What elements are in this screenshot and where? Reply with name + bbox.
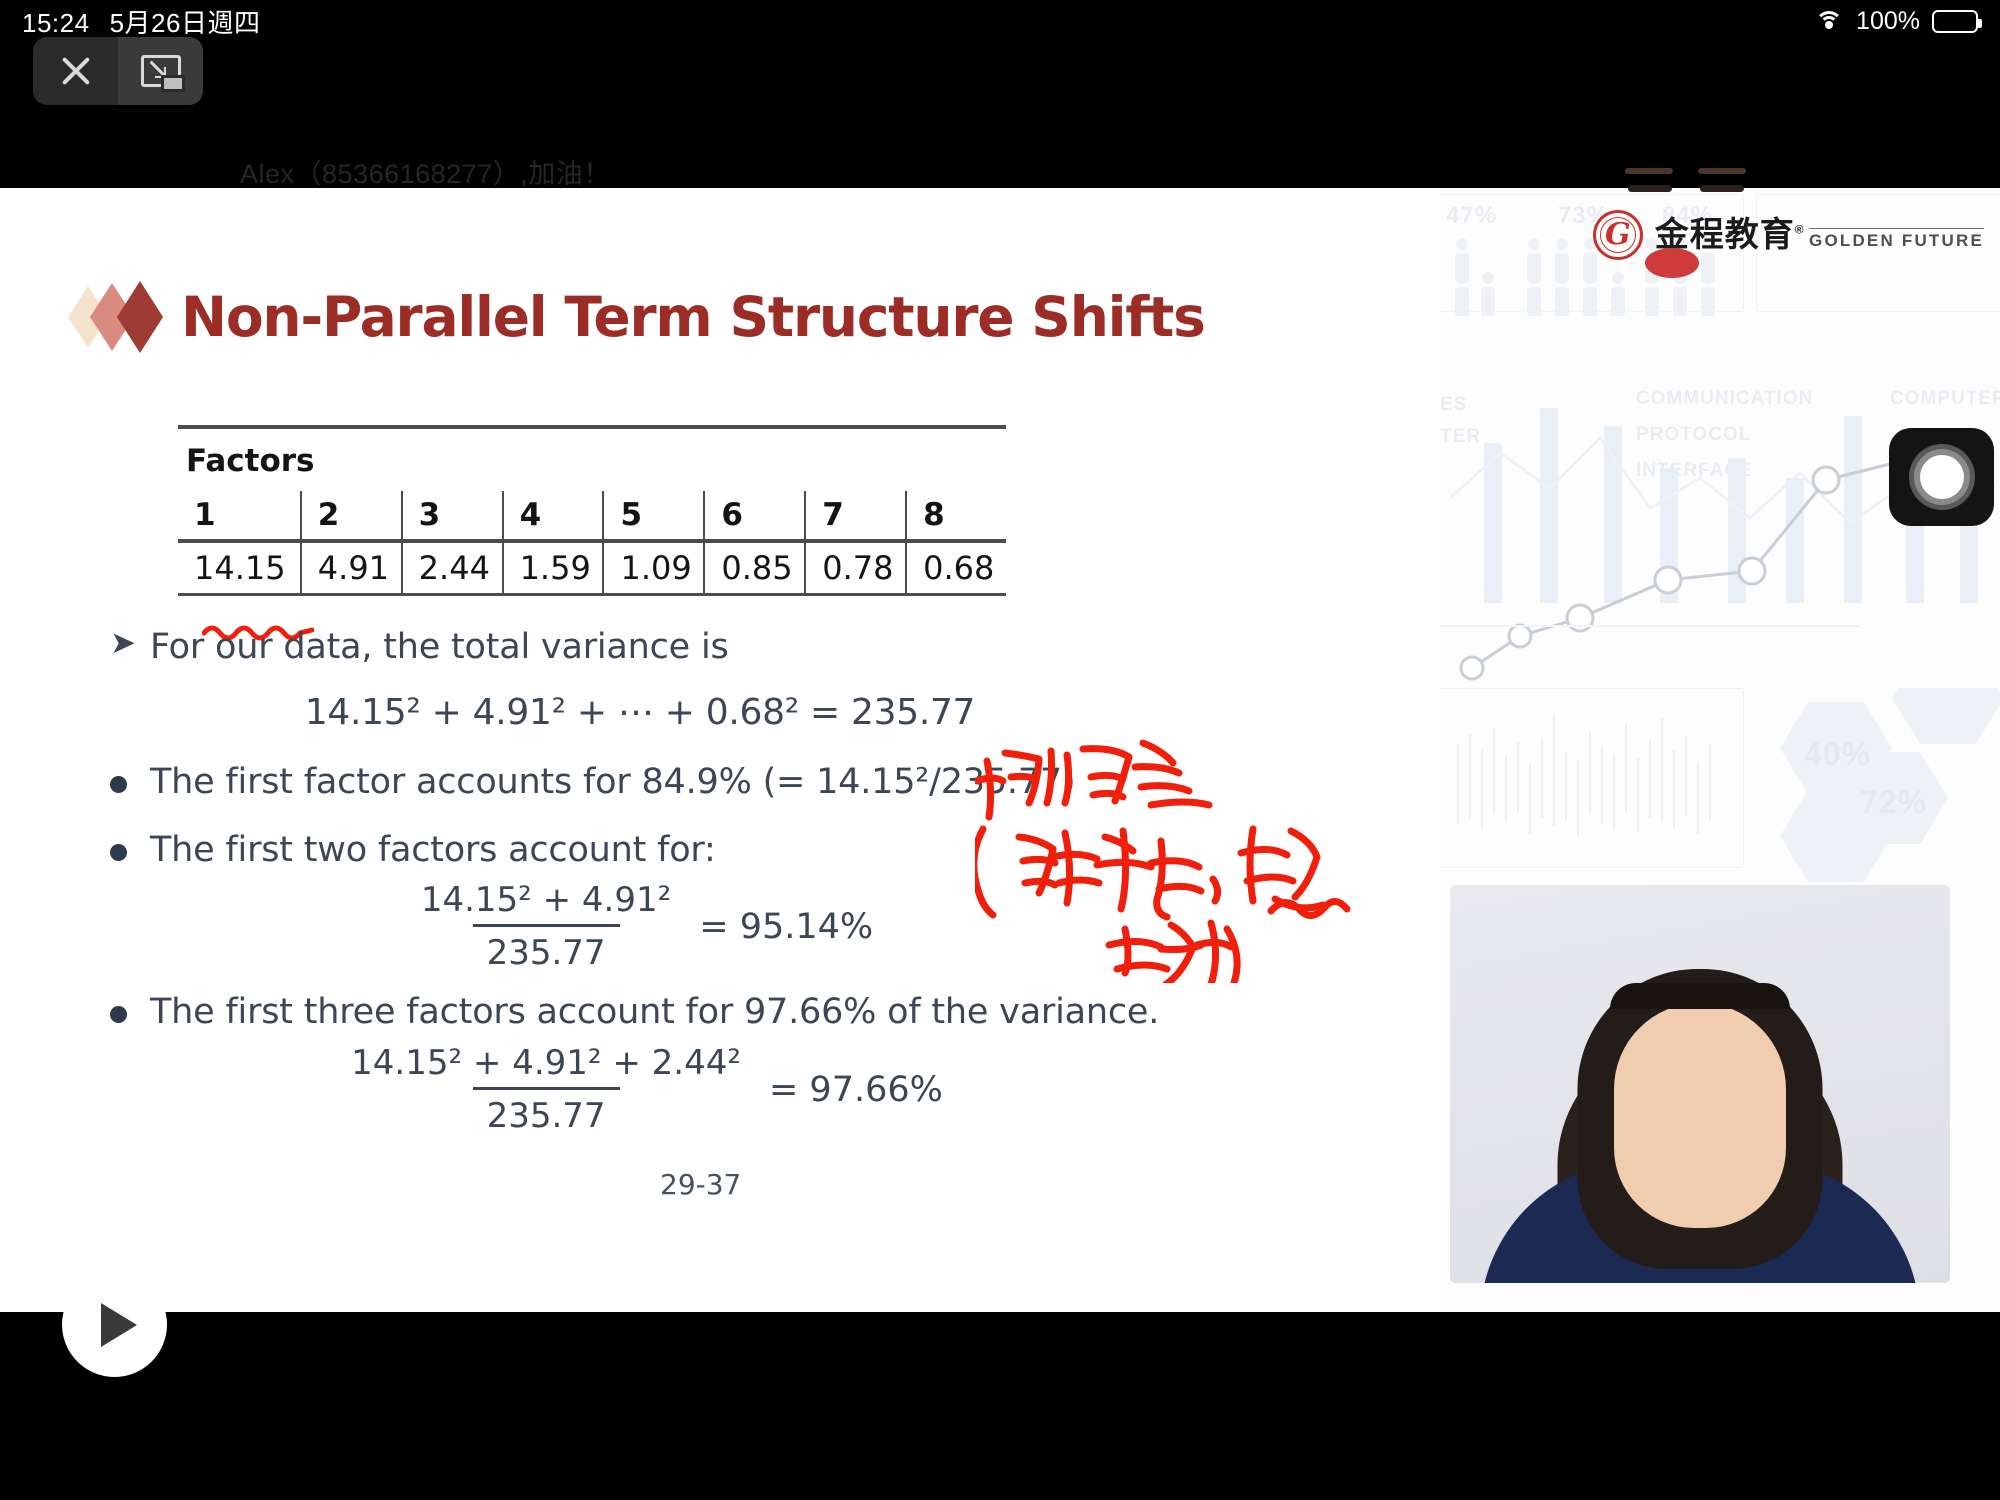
brand-name-en: GOLDEN FUTURE: [1809, 228, 1984, 250]
webcam-face: [1614, 1003, 1786, 1228]
status-bar: 15:24 5月26日週四 100%: [0, 0, 2000, 42]
bullet-item-1-text: The first factor accounts for 84.9% (= 1…: [150, 761, 1075, 805]
webcam-eyebrow-right: [1698, 168, 1746, 174]
fraction-1-numerator: 14.15² + 4.91²: [407, 880, 685, 924]
fraction-2-result: = 97.66%: [769, 1070, 943, 1110]
page-title: Non-Parallel Term Structure Shifts: [181, 285, 1205, 349]
battery-percent-label: 100%: [1856, 7, 1920, 36]
fraction-1-result: = 95.14%: [699, 907, 873, 947]
registered-mark: ®: [1795, 223, 1805, 237]
webcam-lips: [1645, 248, 1699, 278]
factors-table: 1 2 3 4 5 6 7 8 14.15 4.91: [178, 491, 1006, 596]
bullet-item-3-text: The first three factors account for 97.6…: [150, 991, 1159, 1035]
table-cell: 2.44: [402, 541, 503, 595]
slide-page-number: 29-37: [660, 1168, 741, 1201]
fraction-2-numerator: 14.15² + 4.91² + 2.44²: [337, 1043, 755, 1087]
bullet-item-3: The first three factors account for 97.6…: [110, 991, 1170, 1035]
instructor-webcam-video[interactable]: [1450, 885, 1950, 1283]
table-cell: 14.15: [178, 541, 301, 595]
fraction-2-denominator: 235.77: [473, 1087, 620, 1136]
decor-pct-1: 47%: [1446, 202, 1497, 230]
factors-table-wrapper: Factors 1 2 3 4 5 6 7 8: [178, 425, 1006, 596]
slide-title-row: Non-Parallel Term Structure Shifts: [62, 278, 1205, 356]
table-cell: 1.09: [603, 541, 704, 595]
close-button[interactable]: [33, 37, 118, 105]
diamond-bullet-icon: [62, 278, 167, 356]
table-header-cell: 2: [301, 491, 402, 541]
picture-in-picture-icon: [141, 55, 181, 87]
dot-bullet-icon: [110, 991, 150, 1023]
decor-line-chart: [1440, 368, 2000, 698]
app-root: 15:24 5月26日週四 100% Alex（85366168277）,加油！: [0, 0, 2000, 1500]
table-header-cell: 4: [503, 491, 604, 541]
play-button[interactable]: [62, 1272, 167, 1377]
table-cell: 1.59: [503, 541, 604, 595]
table-cell: 0.78: [805, 541, 906, 595]
seal-glyph: G: [1605, 220, 1631, 250]
webcam-eyebrow-left: [1625, 168, 1673, 174]
table-header-cell: 5: [603, 491, 704, 541]
table-header-cell: 6: [704, 491, 805, 541]
decor-candlestick-chart: [1448, 694, 1738, 869]
webcam-headband: [1610, 983, 1790, 1009]
wifi-icon: [1814, 10, 1844, 32]
slide-content: Non-Parallel Term Structure Shifts Facto…: [0, 188, 1440, 1312]
table-row: 14.15 4.91 2.44 1.59 1.09 0.85 0.78 0.68: [178, 541, 1006, 595]
fraction-1-denominator: 235.77: [473, 924, 620, 973]
dot-bullet-icon: [110, 761, 150, 793]
camera-lens-icon[interactable]: [1889, 428, 1994, 526]
decor-hex-pct-2: 72%: [1860, 784, 1927, 821]
table-header-cell: 8: [906, 491, 1006, 541]
decor-hex-pct-1: 40%: [1804, 736, 1871, 773]
table-cell: 0.68: [906, 541, 1006, 595]
status-time: 15:24: [22, 8, 90, 39]
close-icon: [59, 54, 93, 88]
bullet-lead: ➤ For our data, the total variance is: [110, 626, 1170, 670]
table-cell: 4.91: [301, 541, 402, 595]
fraction-2: 14.15² + 4.91² + 2.44² 235.77 = 97.66%: [110, 1043, 1170, 1136]
total-variance-equation: 14.15² + 4.91² + ⋯ + 0.68² = 235.77: [110, 692, 1170, 733]
battery-icon: [1932, 10, 1978, 33]
status-bar-left: 15:24 5月26日週四: [22, 3, 260, 40]
table-header-cell: 7: [805, 491, 906, 541]
webcam-eye-left: [1628, 185, 1672, 192]
status-date: 5月26日週四: [110, 3, 261, 40]
table-header-cell: 1: [178, 491, 301, 541]
dot-bullet-icon: [110, 829, 150, 861]
table-header-row: 1 2 3 4 5 6 7 8: [178, 491, 1006, 541]
status-bar-right: 100%: [1814, 7, 1978, 36]
play-icon: [101, 1303, 137, 1347]
webcam-eye-right: [1700, 185, 1744, 192]
arrow-bullet-icon: ➤: [110, 626, 150, 660]
table-cell: 0.85: [704, 541, 805, 595]
bullet-lead-text: For our data, the total variance is: [150, 626, 729, 670]
handwritten-annotation: [975, 733, 1405, 983]
table-header-cell: 3: [402, 491, 503, 541]
table-caption: Factors: [178, 429, 1006, 491]
bullet-item-2-text: The first two factors account for:: [150, 829, 716, 873]
seal-icon: G: [1593, 210, 1643, 260]
player-control-pill: [33, 37, 203, 105]
danmaku-message: Alex（85366168277）,加油！: [240, 152, 611, 191]
picture-in-picture-button[interactable]: [118, 37, 203, 105]
brand-logo-text: 金程教育® GOLDEN FUTURE: [1655, 218, 1984, 252]
